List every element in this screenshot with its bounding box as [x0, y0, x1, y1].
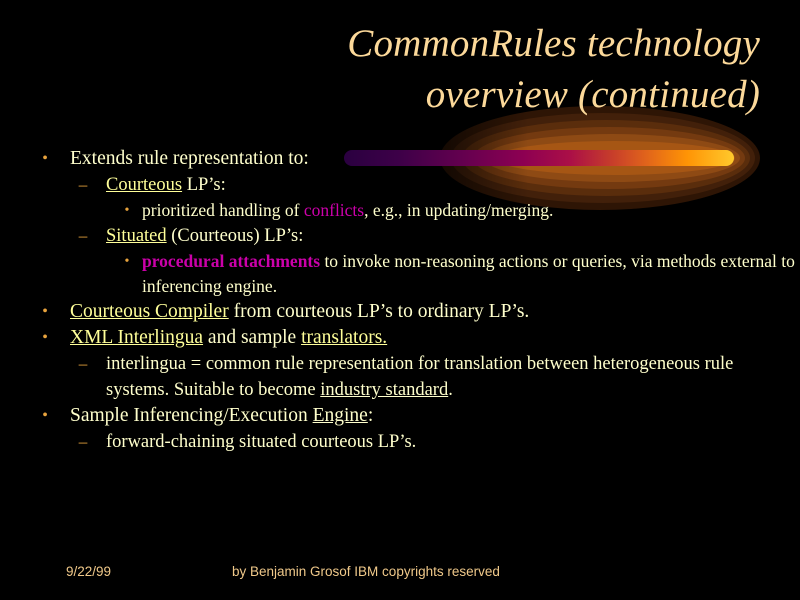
- text-segment: and sample: [203, 327, 301, 348]
- bullet-marker: •: [120, 249, 134, 274]
- bullet-text: interlingua = common rule representation…: [106, 351, 800, 403]
- bullet-text: XML Interlingua and sample translators.: [70, 325, 800, 351]
- text-segment: forward-chaining situated courteous LP’s…: [106, 432, 416, 452]
- text-segment: Courteous Compiler: [70, 301, 229, 322]
- text-segment: procedural attachments: [142, 251, 320, 271]
- bullet-text: Courteous LP’s:: [106, 172, 800, 198]
- slide-title: CommonRules technology overview (continu…: [40, 18, 760, 121]
- bullet-text: Extends rule representation to:: [70, 146, 800, 172]
- text-segment: Extends rule representation to:: [70, 148, 309, 169]
- title-line-1: CommonRules technology: [40, 18, 760, 69]
- bullet-text: Situated (Courteous) LP’s:: [106, 223, 800, 249]
- bullet-item-level-2: –Situated (Courteous) LP’s:: [0, 223, 800, 249]
- text-segment: (Courteous) LP’s:: [167, 226, 304, 246]
- bullet-marker: –: [76, 351, 90, 377]
- text-segment: .: [448, 380, 453, 400]
- text-segment: Engine: [313, 405, 368, 426]
- text-segment: conflicts: [304, 200, 364, 220]
- bullet-marker: •: [38, 299, 52, 325]
- bullet-text: procedural attachments to invoke non-rea…: [142, 249, 800, 299]
- bullet-text: Courteous Compiler from courteous LP’s t…: [70, 299, 800, 325]
- footer-credit: by Benjamin Grosof IBM copyrights reserv…: [232, 564, 500, 579]
- text-segment: LP’s:: [182, 175, 226, 195]
- slide-body-list: •Extends rule representation to:–Courteo…: [0, 146, 800, 455]
- text-segment: Sample Inferencing/Execution: [70, 405, 313, 426]
- bullet-marker: •: [38, 146, 52, 172]
- footer-date: 9/22/99: [66, 564, 111, 579]
- bullet-item-level-2: –forward-chaining situated courteous LP’…: [0, 429, 800, 455]
- bullet-text: prioritized handling of conflicts, e.g.,…: [142, 198, 800, 223]
- title-line-2: overview (continued): [40, 69, 760, 120]
- bullet-item-level-1: •Extends rule representation to:: [0, 146, 800, 172]
- text-segment: Courteous: [106, 175, 182, 195]
- bullet-text: forward-chaining situated courteous LP’s…: [106, 429, 800, 455]
- text-segment: translators.: [301, 327, 387, 348]
- bullet-marker: •: [120, 198, 134, 223]
- bullet-item-level-1: •Courteous Compiler from courteous LP’s …: [0, 299, 800, 325]
- text-segment: from courteous LP’s to ordinary LP’s.: [229, 301, 530, 322]
- bullet-marker: •: [38, 403, 52, 429]
- text-segment: Situated: [106, 226, 167, 246]
- text-segment: XML Interlingua: [70, 327, 203, 348]
- bullet-marker: –: [76, 172, 90, 198]
- bullet-item-level-3: •procedural attachments to invoke non-re…: [0, 249, 800, 299]
- bullet-item-level-2: –interlingua = common rule representatio…: [0, 351, 800, 403]
- presentation-slide: CommonRules technology overview (continu…: [0, 0, 800, 600]
- bullet-marker: –: [76, 429, 90, 455]
- bullet-text: Sample Inferencing/Execution Engine:: [70, 403, 800, 429]
- bullet-item-level-1: •XML Interlingua and sample translators.: [0, 325, 800, 351]
- slide-footer: 9/22/99 by Benjamin Grosof IBM copyright…: [0, 564, 800, 586]
- text-segment: prioritized handling of: [142, 200, 304, 220]
- text-segment: :: [368, 405, 373, 426]
- bullet-item-level-1: •Sample Inferencing/Execution Engine:: [0, 403, 800, 429]
- bullet-marker: •: [38, 325, 52, 351]
- text-segment: industry standard: [320, 380, 448, 400]
- bullet-marker: –: [76, 223, 90, 249]
- bullet-item-level-3: •prioritized handling of conflicts, e.g.…: [0, 198, 800, 223]
- bullet-item-level-2: –Courteous LP’s:: [0, 172, 800, 198]
- text-segment: , e.g., in updating/merging.: [364, 200, 553, 220]
